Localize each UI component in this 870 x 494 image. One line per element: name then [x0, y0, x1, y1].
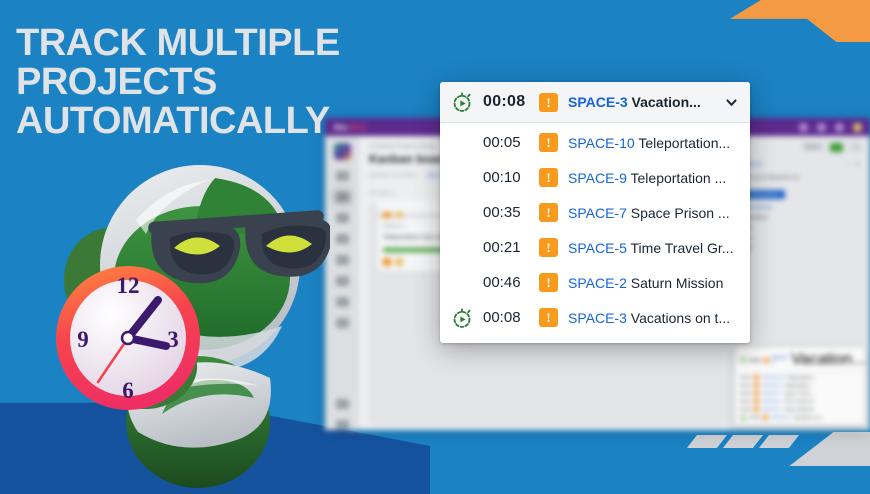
chevron-down-icon[interactable] — [725, 96, 738, 109]
stopwatch-running-icon[interactable] — [451, 307, 473, 329]
priority-high-icon — [539, 238, 558, 257]
row-issue-key: SPACE-9 — [568, 170, 627, 186]
mini-row-key: SPACE-10 — [762, 375, 783, 380]
priority-high-icon — [383, 258, 391, 266]
list-item[interactable]: 00:05 SPACE-10 Teleportation... — [738, 373, 862, 381]
sidebar-item-backlog[interactable] — [336, 171, 349, 181]
detail-window-controls[interactable]: – ✕ — [846, 161, 862, 168]
mini-row-summary: Vacations on t... — [793, 415, 825, 420]
mini-header-key: SPACE-3 — [772, 355, 789, 365]
alarm-clock-icon: 12 3 6 9 — [56, 266, 200, 410]
time-tracking-popup[interactable]: 00:08 SPACE-3 Vacation... 00:05 SPACE-10… — [440, 82, 750, 343]
clock-center-pin — [122, 332, 134, 344]
row-issue-summary: Space Prison ... — [631, 205, 730, 221]
row-issue-summary: Vacations on t... — [631, 310, 730, 326]
row-issue-label[interactable]: SPACE-3 Vacations on t... — [568, 310, 738, 326]
headline-line-2: Projects — [16, 63, 446, 102]
priority-high-icon — [763, 415, 768, 420]
active-issue-summary: Vacation... — [632, 94, 701, 110]
detail-panel-header: SPACE-9 – ✕ — [739, 161, 862, 168]
list-item[interactable]: 00:10 SPACE-9 Teleportation ... — [440, 160, 750, 195]
mini-popup-list: 00:05 SPACE-10 Teleportation... 00:10 SP… — [738, 373, 862, 422]
priority-high-icon — [539, 308, 558, 327]
detail-field-2: None — [739, 235, 862, 241]
row-time: 00:10 — [483, 169, 529, 186]
row-issue-key: SPACE-5 — [568, 240, 627, 256]
notifications-icon[interactable] — [835, 123, 844, 132]
project-avatar-icon[interactable] — [334, 143, 351, 160]
jira-bar-icons — [799, 123, 862, 132]
page-title: Track Multiple Projects Automatically — [16, 24, 446, 140]
mini-row-key: SPACE-3 — [771, 415, 790, 420]
sidebar-item-components[interactable] — [336, 276, 349, 286]
row-issue-label[interactable]: SPACE-9 Teleportation ... — [568, 170, 738, 186]
priority-high-icon — [539, 168, 558, 187]
detail-priority: Medium — [739, 215, 862, 221]
mini-header-time: 00:08 — [749, 358, 761, 363]
row-time: 00:35 — [483, 204, 529, 221]
headline-line-1: Track Multiple — [16, 24, 446, 63]
sidebar-item-releases[interactable] — [336, 213, 349, 223]
sidebar-item-pages[interactable] — [336, 297, 349, 307]
board-dropdown-button[interactable]: Board — [802, 142, 825, 152]
list-item[interactable]: 00:21 SPACE-5 Time Travel Gr... — [440, 230, 750, 265]
row-issue-summary: Saturn Mission — [631, 275, 724, 291]
help-icon[interactable] — [817, 123, 826, 132]
row-issue-key: SPACE-7 — [568, 205, 627, 221]
priority-high-icon — [764, 358, 769, 363]
list-item[interactable]: 00:46 SPACE-2 Saturn Mission Pichetka — [738, 405, 862, 413]
stopwatch-running-icon — [740, 357, 746, 363]
mini-row-time: 00:05 — [740, 375, 751, 380]
clock-numeral-6: 6 — [122, 378, 134, 403]
export-icon[interactable] — [830, 143, 843, 152]
list-item[interactable]: 00:05 SPACE-10 Teleportation... — [440, 125, 750, 160]
priority-high-icon — [539, 133, 558, 152]
clock-numeral-9: 9 — [77, 327, 89, 352]
list-item[interactable]: 00:35 SPACE-7 Space Prison ... — [440, 195, 750, 230]
row-issue-label[interactable]: SPACE-5 Time Travel Gr... — [568, 240, 738, 256]
priority-high-icon — [754, 375, 759, 380]
stopwatch-running-icon[interactable] — [451, 91, 473, 113]
row-issue-label[interactable]: SPACE-2 Saturn Mission — [568, 275, 738, 291]
jira-sidebar — [325, 136, 359, 430]
popup-header-active-timer[interactable]: 00:08 SPACE-3 Vacation... — [440, 82, 750, 123]
mini-row-summary: Space Prison ... — [784, 391, 816, 396]
detail-field-3: None — [739, 245, 862, 251]
stopwatch-running-icon — [740, 415, 746, 421]
list-item[interactable]: 00:08 SPACE-3 Vacations on t... — [738, 413, 862, 422]
mini-row-summary: Teleportation... — [787, 375, 817, 380]
mini-row-key: SPACE-5 — [762, 399, 781, 404]
row-issue-label[interactable]: SPACE-10 Teleportation... — [568, 135, 738, 151]
detail-issue-summary: ... set up for Beyond LLC — [739, 174, 862, 182]
priority-high-icon — [754, 407, 759, 412]
background-timer-popup: 00:08 SPACE-3 Vacation... 00:05 SPACE-10… — [734, 346, 866, 426]
row-time: 00:08 — [483, 309, 529, 326]
row-timer-slot[interactable] — [451, 307, 473, 329]
row-issue-key: SPACE-3 — [568, 310, 627, 326]
list-item[interactable]: 00:08 SPACE-3 Vacations on t... — [440, 300, 750, 335]
sidebar-item-issues[interactable] — [336, 255, 349, 265]
row-issue-summary: Teleportation... — [638, 135, 730, 151]
detail-field-1: None — [739, 225, 862, 231]
robot-mascot: 12 3 6 9 — [40, 160, 330, 490]
issue-detail-panel: Board ↗ SPACE-9 – ✕ ... set up for Beyon… — [730, 136, 870, 430]
row-time: 00:21 — [483, 239, 529, 256]
list-item[interactable]: 00:35 SPACE-7 Space Prison ... — [738, 389, 862, 397]
expand-icon[interactable]: ↗ — [849, 142, 862, 152]
priority-high-icon — [539, 203, 558, 222]
view-workflow-link[interactable]: View Workflow — [739, 205, 862, 211]
priority-high-icon — [754, 399, 759, 404]
mini-row-key: SPACE-7 — [762, 391, 781, 396]
settings-gear-icon[interactable] — [336, 399, 349, 409]
active-issue-label[interactable]: SPACE-3 Vacation... — [568, 94, 715, 110]
quick-filters-label: QUICK FILTERS: — [369, 173, 419, 179]
estimate-badge — [395, 258, 403, 266]
list-item[interactable]: 00:46 SPACE-2 Saturn Mission — [440, 265, 750, 300]
mini-row-time: 00:35 — [740, 391, 751, 396]
active-timer-value: 00:08 — [483, 93, 529, 111]
row-time: 00:05 — [483, 134, 529, 151]
row-issue-key: SPACE-10 — [568, 135, 635, 151]
list-item[interactable]: 00:10 SPACE-9 Teleportation ... — [738, 381, 862, 389]
mini-row-time: 00:46 — [740, 407, 751, 412]
headline-line-3: Automatically — [16, 102, 446, 141]
mini-row-summary: Saturn Mission — [784, 407, 814, 412]
row-issue-key: SPACE-2 — [568, 275, 627, 291]
active-issue-key: SPACE-3 — [568, 94, 628, 110]
mini-row-time: 00:21 — [740, 399, 751, 404]
collapse-icon[interactable] — [336, 420, 349, 430]
mini-row-summary: Time Travel Gr... — [784, 399, 817, 404]
row-issue-summary: Time Travel Gr... — [631, 240, 734, 256]
sidebar-item-code[interactable] — [336, 318, 349, 328]
mini-row-time: 00:08 — [749, 415, 760, 420]
board-toolbar: Board ↗ — [739, 142, 862, 152]
edit-icon[interactable] — [799, 123, 808, 132]
row-issue-summary: Teleportation ... — [631, 170, 727, 186]
list-item[interactable]: 00:21 SPACE-5 Time Travel Gr... Pichetka — [738, 397, 862, 405]
timer-list: 00:05 SPACE-10 Teleportation... 00:10 SP… — [440, 123, 750, 343]
mini-row-key: SPACE-9 — [762, 383, 781, 388]
avatar[interactable] — [853, 123, 862, 132]
row-issue-label[interactable]: SPACE-7 Space Prison ... — [568, 205, 738, 221]
clock-numeral-12: 12 — [117, 273, 140, 298]
row-time: 00:46 — [483, 274, 529, 291]
priority-high-icon — [539, 93, 558, 112]
priority-high-icon — [754, 383, 759, 388]
priority-high-icon — [754, 391, 759, 396]
mini-popup-header[interactable]: 00:08 SPACE-3 Vacation... — [738, 350, 862, 373]
priority-high-icon — [539, 273, 558, 292]
mini-header-summary: Vacation... — [791, 351, 865, 369]
detail-priority-value: Medium — [748, 215, 768, 221]
sidebar-item-reports[interactable] — [336, 234, 349, 244]
mini-row-summary: Teleportation ... — [784, 383, 815, 388]
sidebar-item-board[interactable] — [336, 192, 349, 202]
banner-stage: Track Multiple Projects Automatically Ji… — [0, 0, 870, 494]
mini-row-key: SPACE-2 — [762, 407, 781, 412]
mini-row-time: 00:10 — [740, 383, 751, 388]
